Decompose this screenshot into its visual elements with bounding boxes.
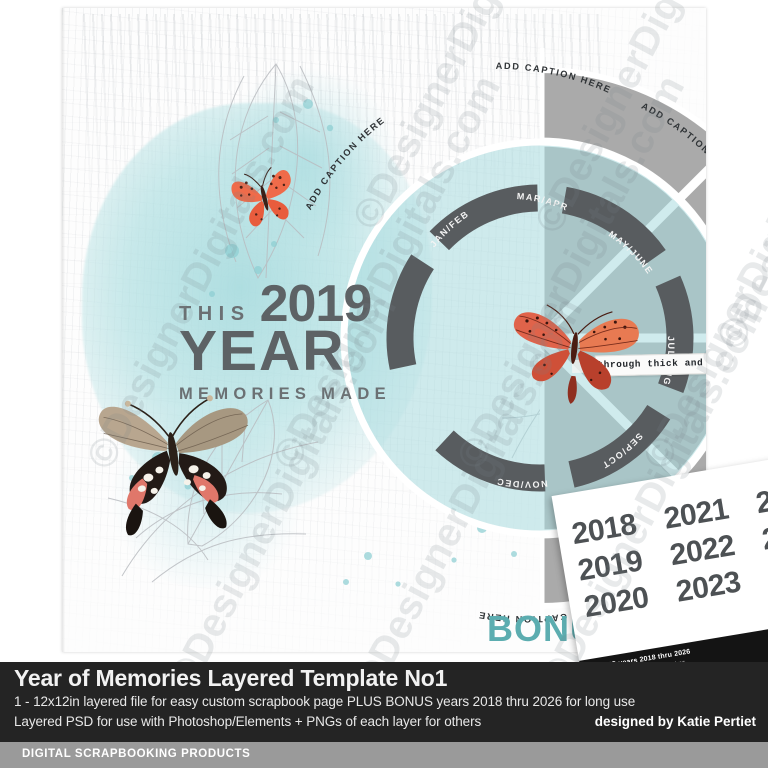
category-label: DIGITAL SCRAPBOOKING PRODUCTS [22, 748, 250, 760]
butterfly-coral-small [228, 160, 300, 232]
product-description-line2: Layered PSD for use with Photoshop/Eleme… [14, 714, 481, 729]
category-strap: DIGITAL SCRAPBOOKING PRODUCTS [0, 742, 768, 768]
product-title: Year of Memories Layered Template No1 [14, 665, 447, 692]
butterfly-swallowtail-large [84, 380, 262, 538]
bonus-years-grid: 2018 2021 2024 2019 2022 2025 2020 2023 … [569, 473, 768, 625]
product-description-line1: 1 - 12x12in layered file for easy custom… [14, 694, 635, 709]
outer-caption-1: ADD CAPTION HERE [303, 115, 386, 212]
watermark: ©DesignerDigitals.com [708, 0, 768, 357]
bonus-year: 2024 [753, 473, 768, 521]
product-image: JAN/FEB MAR/APR MAY/JUNE JUL/AUG SEP/OCT… [0, 0, 768, 768]
artwork-area: JAN/FEB MAR/APR MAY/JUNE JUL/AUG SEP/OCT… [0, 0, 768, 662]
butterfly-orange-right [504, 296, 644, 408]
product-footer: Year of Memories Layered Template No1 1 … [0, 662, 768, 742]
product-designer: designed by Katie Pertiet [595, 714, 756, 729]
title-year-word: YEAR [179, 325, 429, 377]
